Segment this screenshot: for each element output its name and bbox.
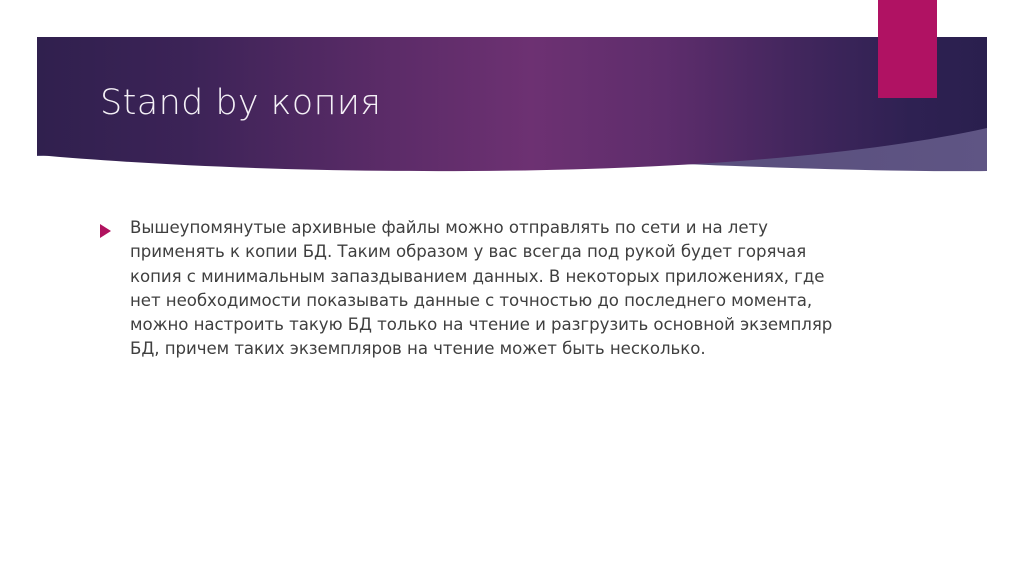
list-item: Вышеупомянутые архивные файлы можно отпр… — [96, 216, 836, 362]
content-body: Вышеупомянутые архивные файлы можно отпр… — [96, 216, 836, 362]
list-item-text: Вышеупомянутые архивные файлы можно отпр… — [130, 216, 836, 362]
slide: Stand by копия Вышеупомянутые архивные ф… — [0, 0, 1024, 574]
triangle-right-icon — [100, 224, 111, 238]
page-title: Stand by копия — [100, 84, 860, 123]
header-accent-rect — [878, 0, 937, 98]
